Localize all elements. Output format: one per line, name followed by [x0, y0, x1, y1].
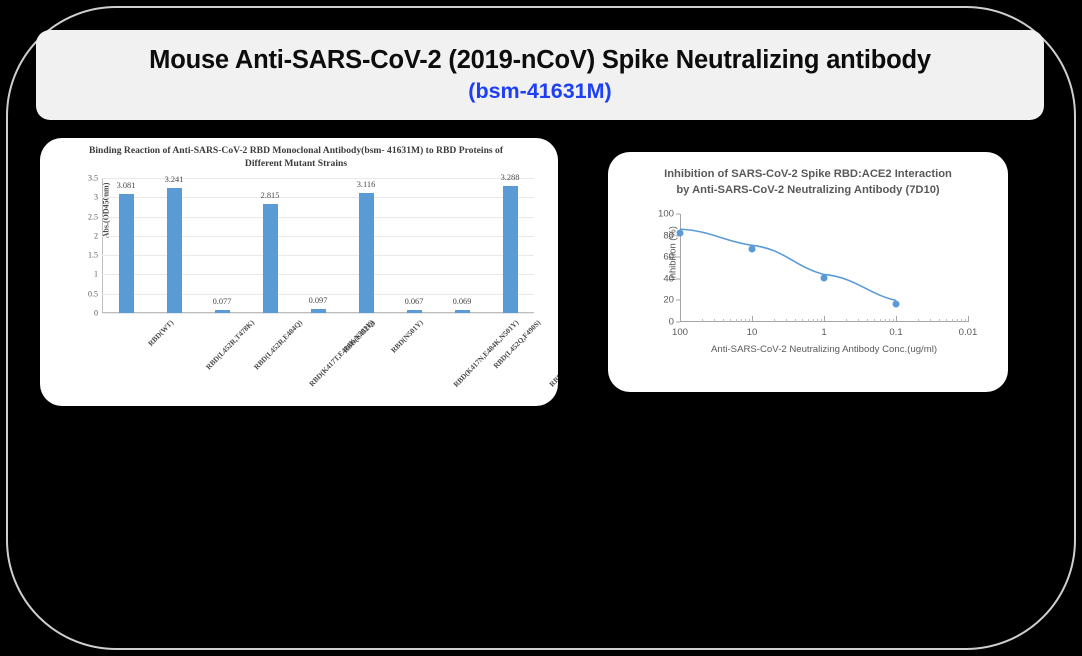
bar-value-label: 3.241: [165, 175, 184, 184]
header-card: Mouse Anti-SARS-CoV-2 (2019-nCoV) Spike …: [36, 30, 1044, 120]
line-chart-x-tick-label: 100: [672, 327, 688, 338]
line-chart-y-tick-label: 20: [663, 295, 674, 306]
bar-rect[interactable]: [263, 204, 278, 313]
line-chart-data-point[interactable]: [893, 300, 900, 307]
bar-column[interactable]: [150, 178, 198, 313]
catalog-number: (bsm-41631M): [468, 78, 611, 104]
bar-chart-title: Binding Reaction of Anti-SARS-CoV-2 RBD …: [86, 145, 506, 171]
line-chart-x-tick-label: 10: [747, 327, 758, 338]
bar-chart-y-tick-label: 3.5: [88, 174, 98, 183]
bar-column[interactable]: [438, 178, 486, 313]
bar-value-label: 0.097: [309, 296, 328, 305]
line-chart-x-tick-label: 0.01: [959, 327, 978, 338]
bar-value-label: 0.069: [453, 297, 472, 306]
bar-chart-y-tick-label: 1.5: [88, 251, 98, 260]
bar-chart-y-tick-label: 3: [94, 193, 98, 202]
line-chart-y-tick-label: 60: [663, 252, 674, 263]
line-chart-data-point[interactable]: [677, 229, 684, 236]
line-chart-data-point[interactable]: [749, 245, 756, 252]
line-chart-plot-area: Inhibition (%) Anti-SARS-CoV-2 Neutraliz…: [680, 214, 968, 322]
product-title: Mouse Anti-SARS-CoV-2 (2019-nCoV) Spike …: [149, 45, 931, 76]
line-chart-y-tick-label: 80: [663, 230, 674, 241]
binding-bar-chart-card: Binding Reaction of Anti-SARS-CoV-2 RBD …: [40, 138, 558, 406]
bar-chart-gridline: [102, 313, 534, 314]
bar-chart-y-tick-label: 0: [94, 309, 98, 318]
bar-x-tick-label: RBD(L452R,T478K): [204, 318, 256, 371]
bar-rect[interactable]: [407, 310, 422, 313]
bar-column[interactable]: [198, 178, 246, 313]
bar-chart-y-tick-label: 2.5: [88, 212, 98, 221]
bar-value-label: 0.067: [405, 297, 424, 306]
line-chart-x-tick-label: 0.1: [889, 327, 902, 338]
bar-value-label: 3.081: [117, 181, 136, 190]
bar-column[interactable]: [342, 178, 390, 313]
bar-rect[interactable]: [167, 188, 182, 313]
bar-x-tick-label: RBD(L452R,E484Q): [252, 318, 304, 371]
bar-rect[interactable]: [359, 193, 374, 313]
line-chart-y-tick-label: 40: [663, 273, 674, 284]
line-chart-title: Inhibition of SARS-CoV-2 Spike RBD:ACE2 …: [628, 166, 988, 198]
bar-rect[interactable]: [215, 310, 230, 313]
bar-value-label: 0.077: [213, 297, 232, 306]
bar-x-tick-label: RBD(WT): [146, 318, 175, 348]
bar-column[interactable]: [102, 178, 150, 313]
bar-column[interactable]: [486, 178, 534, 313]
line-chart-y-tick-label: 0: [669, 317, 674, 328]
line-chart-x-major-tick: [968, 316, 969, 322]
bar-chart-plot-area: Abs.(OD450nm) 00.511.522.533.53.081RBD(W…: [102, 178, 534, 313]
line-chart-x-axis-title: Anti-SARS-CoV-2 Neutralizing Antibody Co…: [690, 344, 958, 355]
bar-rect[interactable]: [119, 194, 134, 313]
inhibition-line-chart-card: Inhibition of SARS-CoV-2 Spike RBD:ACE2 …: [608, 152, 1008, 392]
bar-value-label: 3.288: [501, 173, 520, 182]
bar-x-tick-label: RBD(K417N,L452R,T478K): [547, 318, 558, 389]
bar-chart-y-tick-label: 1: [94, 270, 98, 279]
bar-column[interactable]: [294, 178, 342, 313]
line-chart-series: [680, 214, 968, 322]
line-chart-x-tick-label: 1: [821, 327, 826, 338]
product-datasheet-panel: Mouse Anti-SARS-CoV-2 (2019-nCoV) Spike …: [0, 0, 1082, 656]
bar-chart-y-tick-label: 2: [94, 231, 98, 240]
bar-x-tick-label: RBD(N501Y): [389, 318, 425, 355]
bar-x-tick-label: RBD(L452Q): [341, 318, 377, 355]
line-chart-y-tick-label: 100: [658, 209, 674, 220]
line-chart-data-point[interactable]: [821, 274, 828, 281]
bar-rect[interactable]: [503, 186, 518, 313]
bar-chart-y-tick-label: 0.5: [88, 289, 98, 298]
bar-rect[interactable]: [455, 310, 470, 313]
bar-value-label: 2.815: [261, 191, 280, 200]
bar-column[interactable]: [390, 178, 438, 313]
bar-rect[interactable]: [311, 309, 326, 313]
bar-value-label: 3.116: [357, 180, 376, 189]
